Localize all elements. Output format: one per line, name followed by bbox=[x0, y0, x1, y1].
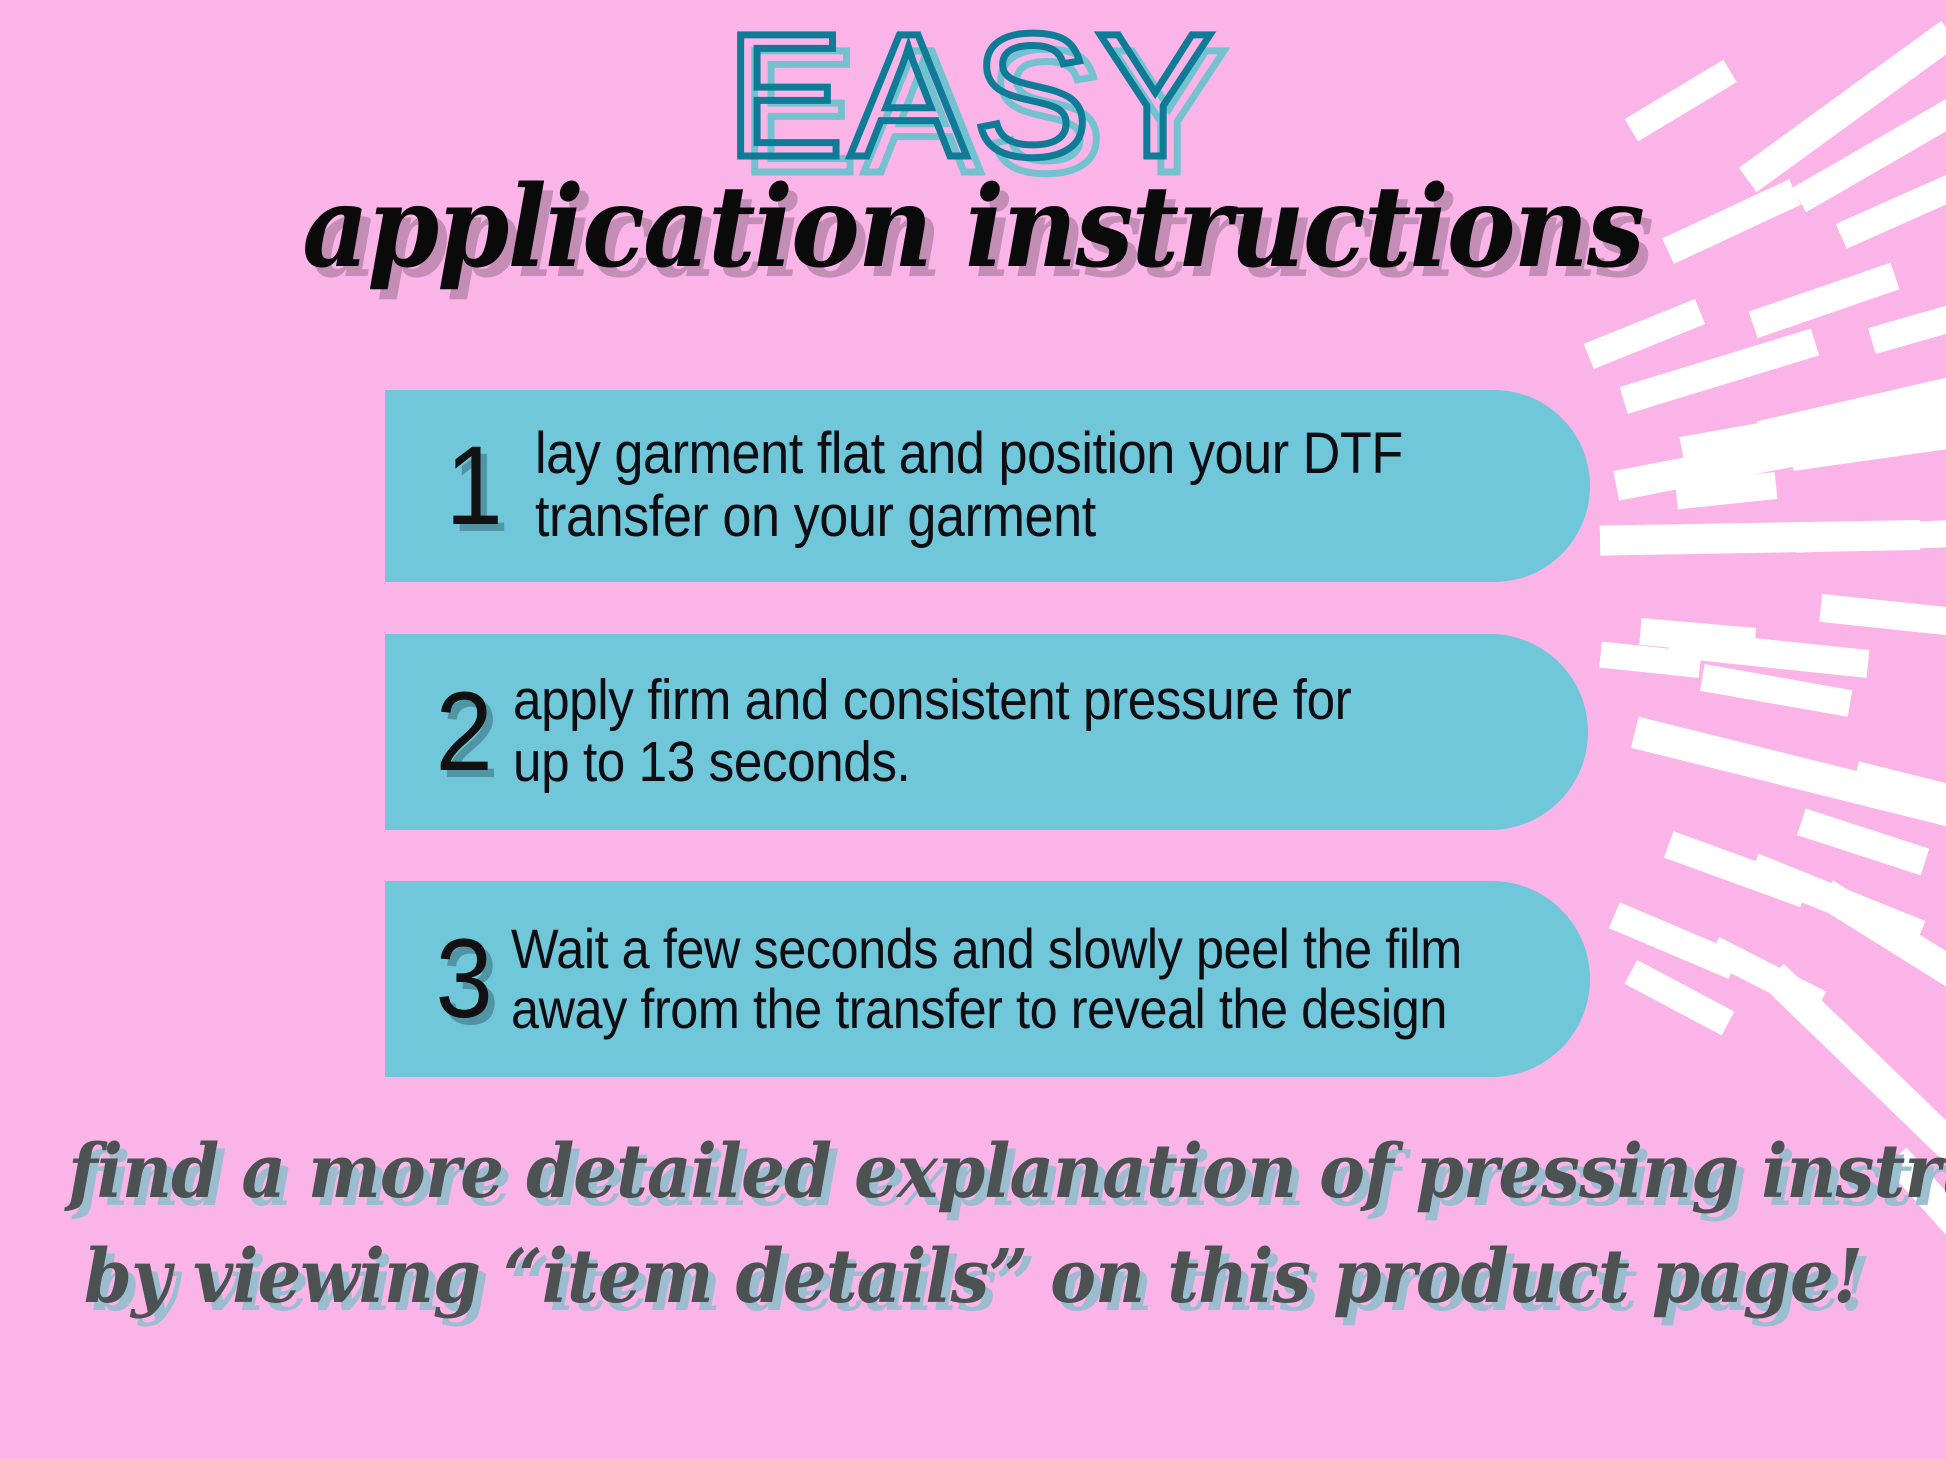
sunburst-ray bbox=[1625, 960, 1735, 1035]
sunburst-ray bbox=[1757, 376, 1946, 448]
sunburst-ray bbox=[1599, 642, 1701, 678]
footer-line-1: find a more detailed explanation of pres… bbox=[68, 1120, 1878, 1225]
step-pill-2: 2 apply firm and consistent pressure for… bbox=[385, 634, 1588, 830]
sunburst-ray bbox=[1852, 761, 1946, 817]
step-text-3: Wait a few seconds and slowly peel the f… bbox=[511, 919, 1482, 1040]
step-pill-3: 3 Wait a few seconds and slowly peel the… bbox=[385, 881, 1590, 1077]
step-number-1: 1 bbox=[445, 433, 502, 539]
sunburst-ray bbox=[1664, 831, 1810, 907]
sunburst-ray bbox=[1675, 472, 1777, 509]
step-pill-1: 1 lay garment flat and position your DTF… bbox=[385, 390, 1590, 582]
sunburst-ray bbox=[1707, 937, 1826, 1016]
step-number-3: 3 bbox=[435, 926, 492, 1032]
sunburst-ray bbox=[1600, 520, 1920, 556]
footer-line-2: by viewing “item details” on this produc… bbox=[68, 1225, 1878, 1330]
sunburst-ray bbox=[1620, 329, 1819, 414]
page-title-easy: EASY bbox=[0, 8, 1946, 184]
step-number-2: 2 bbox=[435, 679, 492, 785]
step-text-2: apply firm and consistent pressure for u… bbox=[513, 670, 1480, 793]
sunburst-ray bbox=[1819, 594, 1946, 636]
sunburst-ray bbox=[1700, 664, 1852, 717]
sunburst-ray bbox=[1796, 520, 1946, 553]
sunburst-ray bbox=[1668, 629, 1870, 678]
sunburst-ray bbox=[1631, 717, 1946, 828]
step-text-1: lay garment flat and position your DTF t… bbox=[535, 423, 1484, 548]
subtitle-container: application instructions bbox=[0, 172, 1946, 284]
sunburst-ray bbox=[1584, 299, 1705, 369]
sunburst-ray bbox=[1790, 420, 1946, 471]
sunburst-ray bbox=[1817, 880, 1946, 1027]
sunburst-ray bbox=[1613, 406, 1946, 500]
sunburst-ray bbox=[1639, 618, 1756, 655]
sunburst-ray bbox=[1868, 301, 1946, 355]
sunburst-ray bbox=[1680, 416, 1803, 462]
sunburst-ray bbox=[1609, 902, 1740, 979]
poster-canvas: EASY EASY application instructions 1 lay… bbox=[0, 0, 1946, 1459]
page-subtitle: application instructions bbox=[303, 172, 1644, 284]
sunburst-ray bbox=[1748, 854, 1926, 948]
sunburst-ray bbox=[1797, 809, 1929, 876]
footer-note: find a more detailed explanation of pres… bbox=[0, 1120, 1946, 1330]
